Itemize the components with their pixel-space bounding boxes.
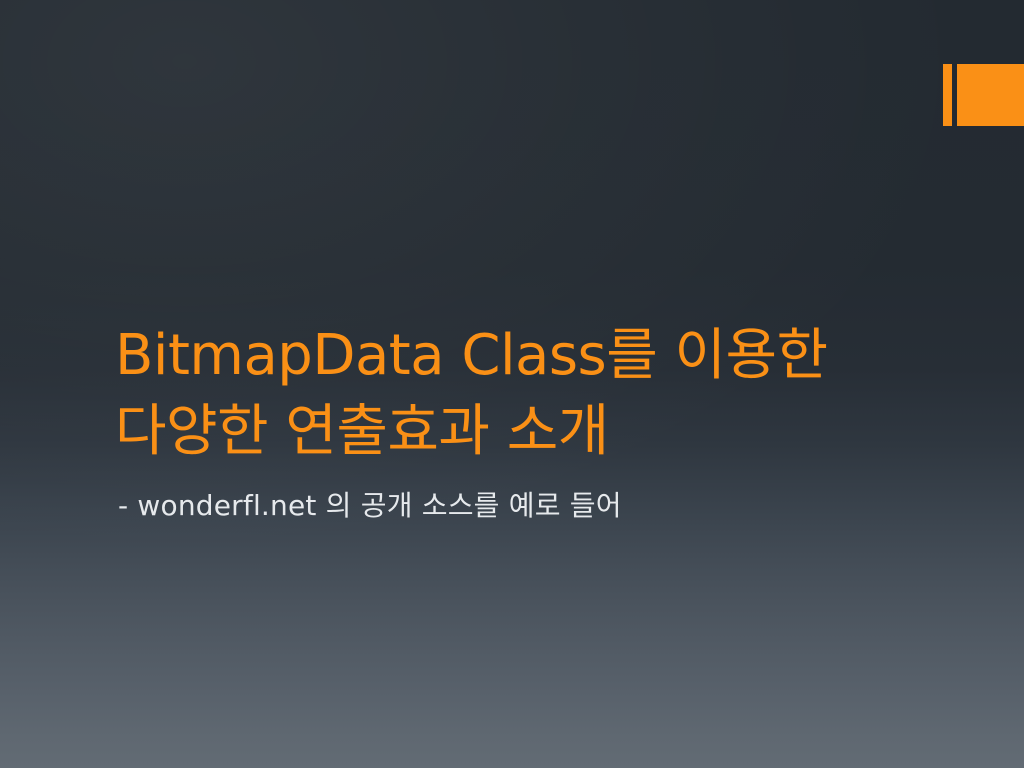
title-subtitle-spacer [115, 470, 975, 486]
slide-subtitle: - wonderfl.net 의 공개 소스를 예로 들어 [115, 486, 975, 526]
accent-bar-thin-icon [943, 64, 952, 126]
slide-text-block: BitmapData Class를 이용한 다양한 연출효과 소개 - wond… [115, 318, 975, 526]
title-slide: BitmapData Class를 이용한 다양한 연출효과 소개 - wond… [0, 0, 1024, 768]
slide-title: BitmapData Class를 이용한 다양한 연출효과 소개 [115, 318, 975, 470]
accent-bar-block-icon [957, 64, 1024, 126]
